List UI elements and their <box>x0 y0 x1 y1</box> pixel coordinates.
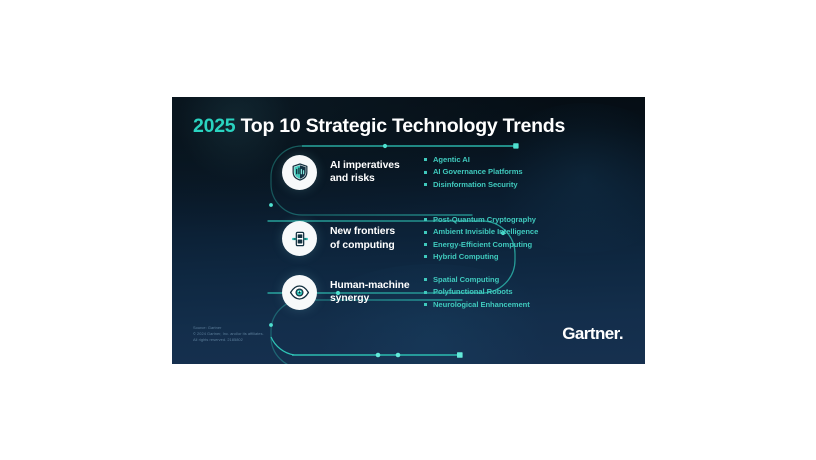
trend-row[interactable]: AI imperatives and risks Agentic AI AI G… <box>282 154 523 191</box>
background-glow-top-left <box>176 97 296 183</box>
list-item[interactable]: Disinformation Security <box>424 179 523 191</box>
trend-row-label-line1: Human-machine <box>330 279 412 292</box>
trend-row-label-line2: of computing <box>330 239 412 252</box>
list-item[interactable]: Energy-Efficient Computing <box>424 239 538 251</box>
title-year: 2025 <box>193 115 235 137</box>
trend-row-label-line2: synergy <box>330 292 412 305</box>
page-title: 2025 Top 10 Strategic Technology Trends <box>193 115 565 138</box>
list-item[interactable]: AI Governance Platforms <box>424 166 523 178</box>
list-item[interactable]: Hybrid Computing <box>424 251 538 263</box>
shield-icon <box>282 155 317 190</box>
processor-chip-icon <box>282 221 317 256</box>
list-item[interactable]: Neurological Enhancement <box>424 299 530 311</box>
source-line-3: All rights reserved. 2185802 <box>193 337 264 343</box>
trend-row-label-line1: New frontiers <box>330 225 412 238</box>
list-item[interactable]: Agentic AI <box>424 154 523 166</box>
list-item[interactable]: Ambient Invisible Intelligence <box>424 226 538 238</box>
screenshot-canvas: 2025 Top 10 Strategic Technology Trends <box>0 0 816 460</box>
gartner-logo-dot: . <box>619 324 623 343</box>
trend-row[interactable]: New frontiers of computing Post-Quantum … <box>282 214 538 263</box>
infographic-card: 2025 Top 10 Strategic Technology Trends <box>172 97 645 364</box>
trend-list: Spatial Computing Polyfunctional Robots … <box>424 274 530 311</box>
trend-row-label-line2: and risks <box>330 172 412 185</box>
eye-icon <box>282 275 317 310</box>
gartner-logo-text: Gartner <box>562 324 619 343</box>
trend-row-label: New frontiers of computing <box>330 225 412 252</box>
trend-row-label-line1: AI imperatives <box>330 159 412 172</box>
gartner-logo: Gartner. <box>562 324 623 344</box>
trend-row-label: AI imperatives and risks <box>330 159 412 186</box>
trend-row[interactable]: Human-machine synergy Spatial Computing … <box>282 274 530 311</box>
trend-row-label: Human-machine synergy <box>330 279 412 306</box>
trend-list: Agentic AI AI Governance Platforms Disin… <box>424 154 523 191</box>
list-item[interactable]: Polyfunctional Robots <box>424 286 530 298</box>
source-attribution: Source: Gartner © 2024 Gartner, Inc. and… <box>193 325 264 343</box>
list-item[interactable]: Post-Quantum Cryptography <box>424 214 538 226</box>
list-item[interactable]: Spatial Computing <box>424 274 530 286</box>
trend-list: Post-Quantum Cryptography Ambient Invisi… <box>424 214 538 263</box>
title-text: Top 10 Strategic Technology Trends <box>241 115 566 137</box>
